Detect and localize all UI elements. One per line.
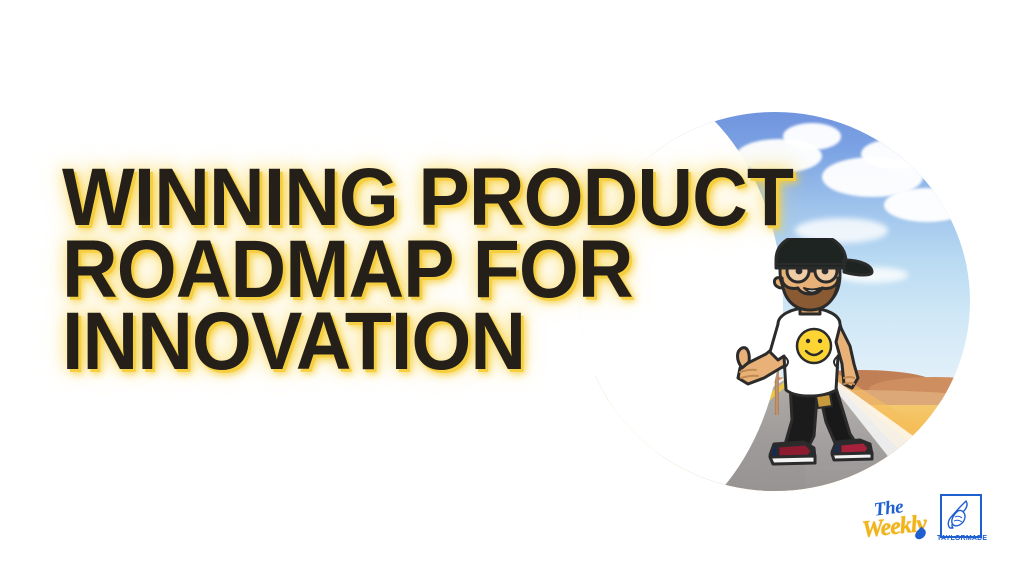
page-title: WINNING PRODUCT ROADMAP FOR INNOVATION [62,162,762,378]
the-weekly-logo[interactable]: The Weekly [862,498,928,550]
logo-group: The Weekly TAYLORMADE [862,492,992,550]
pointing-hand-icon [946,499,970,530]
title-line-3: INNOVATION [62,306,720,378]
taylormade-label: TAYLORMADE [937,535,983,542]
slide-canvas: WINNING PRODUCT ROADMAP FOR INNOVATION T… [0,0,1024,576]
taylormade-logo[interactable]: TAYLORMADE [937,494,985,550]
